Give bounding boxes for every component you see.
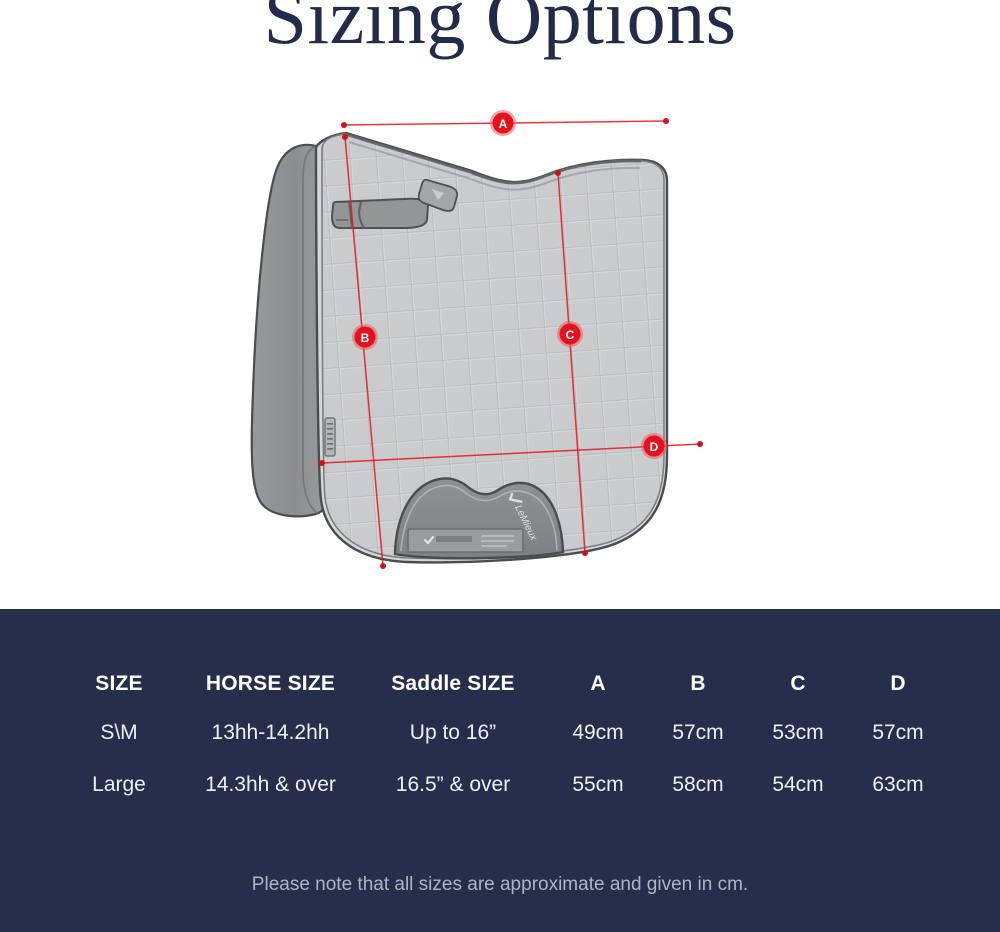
spacer-cell [0, 707, 55, 759]
cell-d: 63cm [848, 759, 948, 811]
spacer-cell [948, 707, 1000, 759]
column-header-size: SIZE [55, 661, 183, 707]
spacer-cell [0, 759, 55, 811]
cell-a: 49cm [548, 707, 648, 759]
measure-marker-c: C [557, 321, 583, 347]
cell-horse-size: 13hh-14.2hh [183, 707, 358, 759]
cell-a: 55cm [548, 759, 648, 811]
svg-text:A: A [499, 117, 508, 131]
cell-saddle-size: Up to 16” [358, 707, 548, 759]
cell-size: Large [55, 759, 183, 811]
cell-b: 57cm [648, 707, 748, 759]
side-woven-label [325, 418, 335, 456]
girth-strap-keeper [332, 199, 428, 228]
table-row: Large 14.3hh & over 16.5” & over 55cm 58… [0, 759, 1000, 811]
spacer-cell [0, 661, 55, 707]
size-chart-table: SIZE HORSE SIZE Saddle SIZE A B C D S\M … [0, 661, 1000, 811]
svg-text:C: C [566, 328, 575, 342]
cell-saddle-size: 16.5” & over [358, 759, 548, 811]
cell-d: 57cm [848, 707, 948, 759]
column-header-saddle-size: Saddle SIZE [358, 661, 548, 707]
care-label [408, 529, 523, 552]
column-header-c: C [748, 661, 848, 707]
cell-horse-size: 14.3hh & over [183, 759, 358, 811]
spacer-cell [948, 759, 1000, 811]
diagram-section: Sizing Options [0, 0, 1000, 609]
spacer-cell [948, 661, 1000, 707]
svg-text:B: B [361, 331, 370, 345]
cell-b: 58cm [648, 759, 748, 811]
column-header-b: B [648, 661, 748, 707]
cell-c: 53cm [748, 707, 848, 759]
spec-panel: SIZE HORSE SIZE Saddle SIZE A B C D S\M … [0, 609, 1000, 932]
measure-marker-a: A [490, 110, 516, 136]
saddle-pad-diagram: LeMieux [0, 0, 1000, 609]
column-header-horse-size: HORSE SIZE [183, 661, 358, 707]
column-header-d: D [848, 661, 948, 707]
measure-marker-b: B [352, 324, 378, 350]
table-row: S\M 13hh-14.2hh Up to 16” 49cm 57cm 53cm… [0, 707, 1000, 759]
sizing-note: Please note that all sizes are approxima… [0, 874, 1000, 896]
cell-size: S\M [55, 707, 183, 759]
column-header-a: A [548, 661, 648, 707]
svg-text:D: D [650, 440, 659, 454]
cell-c: 54cm [748, 759, 848, 811]
table-header-row: SIZE HORSE SIZE Saddle SIZE A B C D [0, 661, 1000, 707]
measure-marker-d: D [641, 433, 667, 459]
